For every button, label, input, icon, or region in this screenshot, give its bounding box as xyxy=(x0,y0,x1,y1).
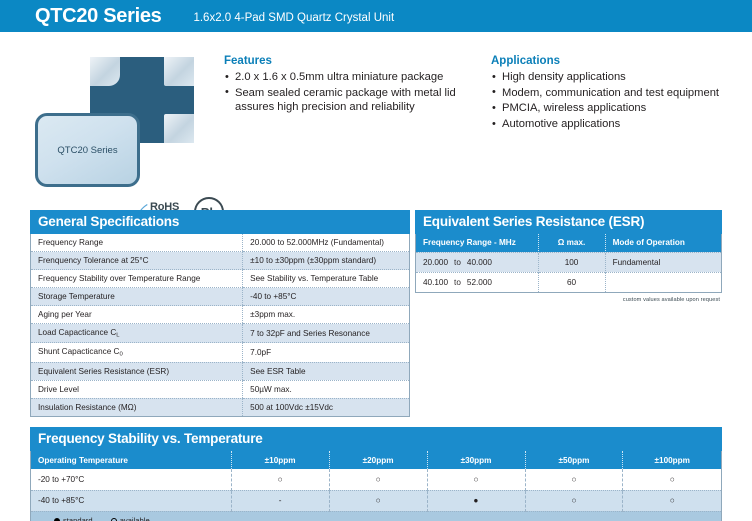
legend-available: available xyxy=(111,516,150,521)
stability-mark: ○ xyxy=(525,490,623,511)
table-row: Frequency Stability over Temperature Ran… xyxy=(31,270,409,288)
table-row: Load Capacticance CL 7 to 32pF and Serie… xyxy=(31,324,409,343)
list-item: Automotive applications xyxy=(491,117,752,131)
table-row: Frenquency Tolerance at 25°C±10 to ±30pp… xyxy=(31,252,409,270)
stability-title: Frequency Stability vs. Temperature xyxy=(30,427,722,451)
table-row: 20.000 to 40.000 100 Fundamental xyxy=(416,252,721,272)
list-item: 2.0 x 1.6 x 0.5mm ultra miniature packag… xyxy=(224,70,479,84)
chip-pad-top-left xyxy=(90,57,120,86)
stability-mark: ○ xyxy=(525,469,623,490)
list-item: Seam sealed ceramic package with metal l… xyxy=(224,86,479,114)
esr-range-to: 52.000 xyxy=(467,278,492,287)
stability-mark: ○ xyxy=(623,469,721,490)
esr-title: Equivalent Series Resistance (ESR) xyxy=(415,210,722,234)
table-row: -40 to +85°C - ○ ● ○ ○ xyxy=(31,490,721,511)
stability-table: Operating Temperature ±10ppm ±20ppm ±30p… xyxy=(31,451,721,521)
spec-value: See ESR Table xyxy=(243,362,409,380)
stability-col-50ppm: ±50ppm xyxy=(525,451,623,469)
esr-range-from: 40.100 xyxy=(423,278,448,287)
list-item: PMCIA, wireless applications xyxy=(491,101,752,115)
table-row: Equivalent Series Resistance (ESR)See ES… xyxy=(31,362,409,380)
chip-pad-top-right xyxy=(164,57,194,86)
esr-range-parts: 40.100 to 52.000 xyxy=(423,278,531,287)
spec-param: Load Capacticance CL xyxy=(31,324,243,343)
applications-heading: Applications xyxy=(491,55,752,67)
esr-table: Frequency Range - MHz Ω max. Mode of Ope… xyxy=(416,234,721,292)
spec-value: See Stability vs. Temperature Table xyxy=(243,270,409,288)
features-section: Features 2.0 x 1.6 x 0.5mm ultra miniatu… xyxy=(224,55,479,116)
stability-mark: ○ xyxy=(329,490,427,511)
table-row: -20 to +70°C ○ ○ ○ ○ ○ xyxy=(31,469,721,490)
spec-param: Frenquency Tolerance at 25°C xyxy=(31,252,243,270)
spec-value: ±10 to ±30ppm (±30ppm standard) xyxy=(243,252,409,270)
stability-mark: ● xyxy=(427,490,525,511)
stability-col-10ppm: ±10ppm xyxy=(231,451,329,469)
general-specifications-title: General Specifications xyxy=(30,210,410,234)
table-row: Insulation Resistance (MΩ)500 at 100Vdc … xyxy=(31,398,409,416)
esr-frequency-range: 20.000 to 40.000 xyxy=(416,252,538,272)
table-row: Storage Temperature-40 to +85°C xyxy=(31,288,409,306)
spec-value: 7.0pF xyxy=(243,343,409,362)
features-heading: Features xyxy=(224,55,479,67)
table-row: Aging per Year±3ppm max. xyxy=(31,306,409,324)
general-specifications-table-wrap: Frequency Range20.000 to 52.000MHz (Fund… xyxy=(30,234,410,417)
esr-range-sep: to xyxy=(454,258,461,267)
stability-col-100ppm: ±100ppm xyxy=(623,451,721,469)
table-row: Drive Level50µW max. xyxy=(31,380,409,398)
stability-legend-row: standard available xyxy=(31,511,721,521)
spec-value: 7 to 32pF and Series Resonance xyxy=(243,324,409,343)
applications-list: High density applications Modem, communi… xyxy=(491,70,752,131)
general-specifications-table: Frequency Range20.000 to 52.000MHz (Fund… xyxy=(31,234,409,416)
stability-col-30ppm: ±30ppm xyxy=(427,451,525,469)
stability-legend: standard available xyxy=(31,511,721,521)
stability-mark: - xyxy=(231,490,329,511)
spec-value: 20.000 to 52.000MHz (Fundamental) xyxy=(243,234,409,252)
chip-body: QTC20 Series xyxy=(35,113,140,187)
spec-param: Frequency Range xyxy=(31,234,243,252)
banner-divider xyxy=(0,32,752,35)
table-row: 40.100 to 52.000 60 xyxy=(416,272,721,292)
page-subtitle: 1.6x2.0 4-Pad SMD Quartz Crystal Unit xyxy=(193,9,394,24)
stability-mark: ○ xyxy=(427,469,525,490)
spec-param: Aging per Year xyxy=(31,306,243,324)
table-header-row: Frequency Range - MHz Ω max. Mode of Ope… xyxy=(416,234,721,252)
stability-mark: ○ xyxy=(623,490,721,511)
stability-temperature: -40 to +85°C xyxy=(31,490,231,511)
spec-param-text: Load Capacticance C xyxy=(38,328,116,337)
spec-value: 500 at 100Vdc ±15Vdc xyxy=(243,398,409,416)
esr-mode: Fundamental xyxy=(605,252,721,272)
spec-param-subscript: 0 xyxy=(119,352,122,358)
spec-param: Storage Temperature xyxy=(31,288,243,306)
datasheet-page: QTC20 Series 1.6x2.0 4-Pad SMD Quartz Cr… xyxy=(0,0,752,521)
legend-standard-label: standard xyxy=(63,516,93,521)
list-item: High density applications xyxy=(491,70,752,84)
esr-col-frequency-range: Frequency Range - MHz xyxy=(416,234,538,252)
spec-param: Shunt Capacticance C0 xyxy=(31,343,243,362)
list-item: Modem, communication and test equipment xyxy=(491,86,752,100)
legend-available-label: available xyxy=(120,516,150,521)
legend-standard: standard xyxy=(54,516,93,521)
esr-range-to: 40.000 xyxy=(467,258,492,267)
page-title: QTC20 Series xyxy=(35,5,161,28)
general-specifications-card: General Specifications Frequency Range20… xyxy=(30,210,410,417)
page-banner: QTC20 Series 1.6x2.0 4-Pad SMD Quartz Cr… xyxy=(0,0,752,32)
esr-range-parts: 20.000 to 40.000 xyxy=(423,258,531,267)
spec-value: -40 to +85°C xyxy=(243,288,409,306)
features-list: 2.0 x 1.6 x 0.5mm ultra miniature packag… xyxy=(224,70,479,114)
spec-param-text: Shunt Capacticance C xyxy=(38,347,119,356)
stability-card: Frequency Stability vs. Temperature Oper… xyxy=(30,427,722,521)
product-image: QTC20 Series RoHS compliant Pb lead-free xyxy=(22,55,222,190)
stability-mark: ○ xyxy=(329,469,427,490)
esr-range-from: 20.000 xyxy=(423,258,448,267)
esr-note: custom values available upon request xyxy=(415,297,722,303)
esr-ohms: 60 xyxy=(538,272,605,292)
stability-col-operating-temperature: Operating Temperature xyxy=(31,451,231,469)
spec-param: Drive Level xyxy=(31,380,243,398)
spec-value: ±3ppm max. xyxy=(243,306,409,324)
spec-value: 50µW max. xyxy=(243,380,409,398)
spec-param: Insulation Resistance (MΩ) xyxy=(31,398,243,416)
esr-table-wrap: Frequency Range - MHz Ω max. Mode of Ope… xyxy=(415,234,722,293)
chip-label: QTC20 Series xyxy=(57,145,117,156)
chip-pad-bottom-right xyxy=(164,114,194,143)
esr-range-sep: to xyxy=(454,278,461,287)
spec-param-subscript: L xyxy=(116,332,119,338)
esr-col-mode-of-operation: Mode of Operation xyxy=(605,234,721,252)
table-row: Frequency Range20.000 to 52.000MHz (Fund… xyxy=(31,234,409,252)
stability-col-20ppm: ±20ppm xyxy=(329,451,427,469)
table-header-row: Operating Temperature ±10ppm ±20ppm ±30p… xyxy=(31,451,721,469)
esr-card: Equivalent Series Resistance (ESR) Frequ… xyxy=(415,210,722,303)
stability-temperature: -20 to +70°C xyxy=(31,469,231,490)
esr-col-ohms-max: Ω max. xyxy=(538,234,605,252)
stability-mark: ○ xyxy=(231,469,329,490)
stability-table-wrap: Operating Temperature ±10ppm ±20ppm ±30p… xyxy=(30,451,722,521)
spec-param: Frequency Stability over Temperature Ran… xyxy=(31,270,243,288)
applications-section: Applications High density applications M… xyxy=(491,55,752,133)
spec-param: Equivalent Series Resistance (ESR) xyxy=(31,362,243,380)
esr-ohms: 100 xyxy=(538,252,605,272)
esr-mode xyxy=(605,272,721,292)
esr-frequency-range: 40.100 to 52.000 xyxy=(416,272,538,292)
table-row: Shunt Capacticance C0 7.0pF xyxy=(31,343,409,362)
